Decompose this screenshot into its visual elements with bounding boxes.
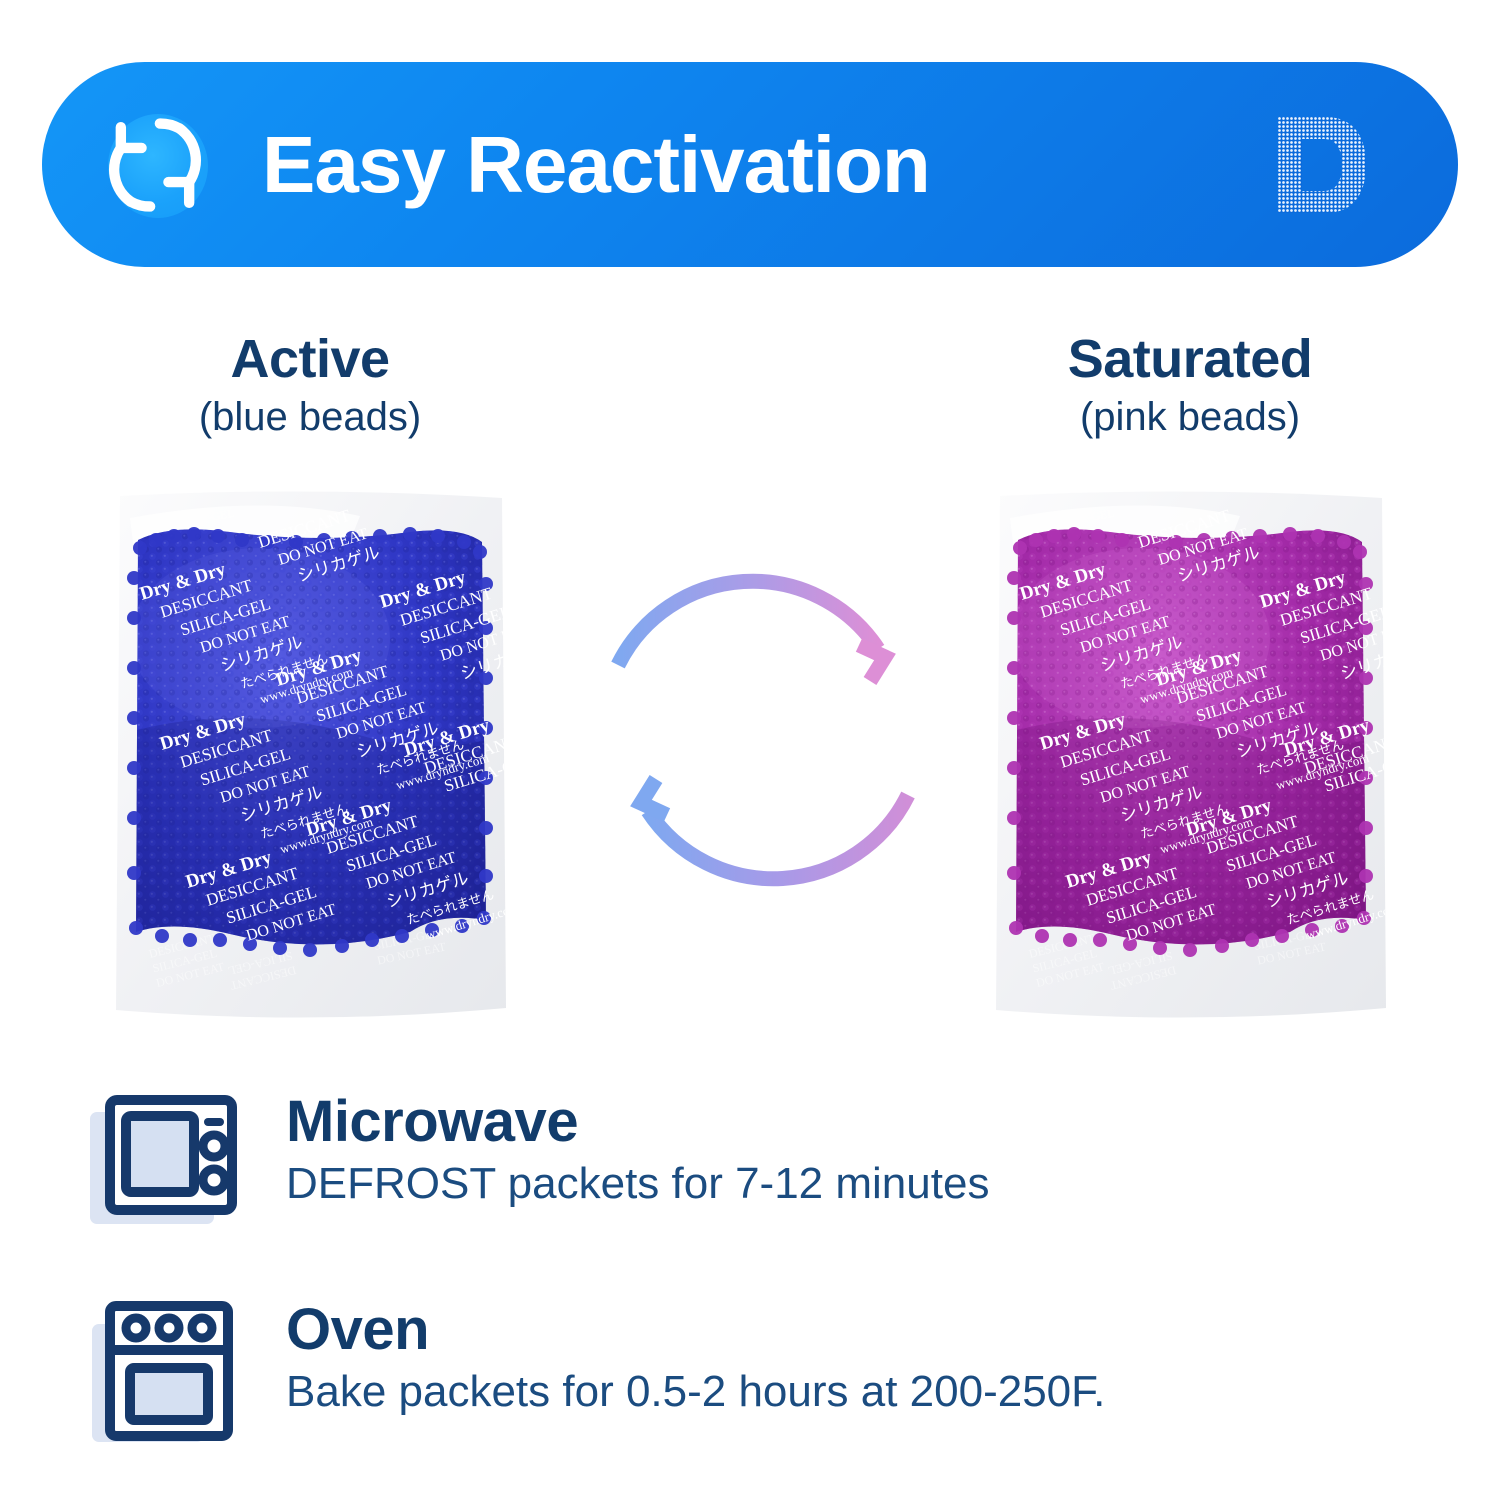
oven-icon [88, 1298, 248, 1448]
instruction-row-oven: Oven Bake packets for 0.5-2 hours at 200… [0, 1298, 1500, 1448]
active-title: Active [70, 330, 550, 388]
comparison-column-active: Active (blue beads) [70, 330, 550, 442]
dry-and-dry-d-logo [1274, 113, 1370, 217]
header-banner: Easy Reactivation [42, 62, 1458, 267]
refresh-cycle-icon [90, 100, 220, 230]
instruction-description: DEFROST packets for 7-12 minutes [286, 1156, 989, 1211]
instruction-row-microwave: Microwave DEFROST packets for 7-12 minut… [0, 1090, 1500, 1240]
active-subtitle: (blue beads) [70, 392, 550, 442]
instruction-title: Oven [286, 1300, 1105, 1360]
instruction-description: Bake packets for 0.5-2 hours at 200-250F… [286, 1364, 1105, 1419]
page-title: Easy Reactivation [262, 125, 930, 205]
instructions-list: Microwave DEFROST packets for 7-12 minut… [0, 1090, 1500, 1506]
comparison-column-saturated: Saturated (pink beads) [950, 330, 1430, 442]
comparison-section: Active (blue beads) [0, 330, 1500, 1070]
microwave-icon [88, 1090, 248, 1240]
two-way-cycle-arrows [578, 545, 948, 915]
silica-packet-saturated: DESICCANTSILICA-GEL DO NOT EAT DESICCANT… [990, 488, 1390, 1036]
instruction-text-microwave: Microwave DEFROST packets for 7-12 minut… [286, 1090, 989, 1212]
silica-packet-active: DESICCANTSILICA-GEL DO NOT EAT DESICCANT… [110, 488, 510, 1036]
instruction-title: Microwave [286, 1092, 989, 1152]
instruction-text-oven: Oven Bake packets for 0.5-2 hours at 200… [286, 1298, 1105, 1420]
saturated-title: Saturated [950, 330, 1430, 388]
saturated-subtitle: (pink beads) [950, 392, 1430, 442]
